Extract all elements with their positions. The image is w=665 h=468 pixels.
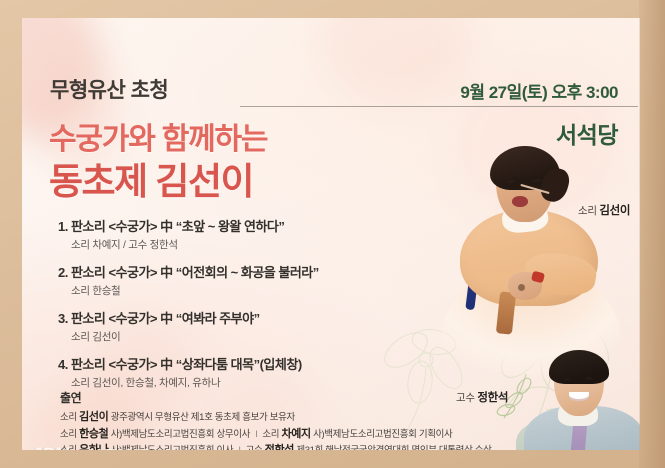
program-item-performers: 소리 한승철 bbox=[71, 283, 428, 298]
cast-heading: 출연 bbox=[60, 389, 590, 406]
header-divider bbox=[240, 106, 638, 107]
poster-title-line2: 동초제 김선이 bbox=[49, 151, 253, 205]
cast-name: 김선이 bbox=[79, 411, 108, 423]
cast-row: 소리 유하나 사)백제남도소리고법진흥회 이사 l 고수 정한석 제31회 해남… bbox=[60, 442, 590, 450]
cast-role: 소리 bbox=[262, 429, 279, 440]
cast-detail: 사)백제남도소리고법진흥회 기획이사 bbox=[313, 429, 452, 440]
kicker-text: 무형유산 초청 bbox=[50, 74, 168, 104]
event-venue: 서석당 bbox=[556, 116, 618, 150]
cast-detail: 사)백제남도소리고법진흥회 이사 bbox=[111, 445, 234, 450]
program-item-title: 3. 판소리 <수궁가> 中 “여봐라 주부야” bbox=[58, 308, 428, 327]
cast-role: 소리 bbox=[60, 412, 77, 423]
cast-section: 출연 소리 김선이 광주광역시 무형유산 제1호 동초제 흥보가 보유자 소리 … bbox=[60, 389, 590, 450]
cast-role: 소리 bbox=[60, 445, 77, 450]
singer-label-role: 소리 bbox=[578, 205, 597, 217]
singer-photo-label: 소리 김선이 bbox=[578, 202, 630, 218]
cast-role: 소리 bbox=[60, 429, 77, 440]
cast-name: 정한석 bbox=[265, 444, 294, 450]
poster-frame: 무형유산 초청 9월 27일(토) 오후 3:00 서석당 수궁가와 함께하는 … bbox=[0, 0, 665, 468]
singer-label-name: 김선이 bbox=[599, 205, 630, 217]
cast-role: 고수 bbox=[246, 445, 263, 450]
program-list: 1. 판소리 <수궁가> 中 “초앞 ~ 왕왈 연하다” 소리 차예지 / 고수… bbox=[58, 216, 428, 400]
cast-separator: l bbox=[252, 429, 260, 440]
program-item: 1. 판소리 <수궁가> 中 “초앞 ~ 왕왈 연하다” 소리 차예지 / 고수… bbox=[58, 216, 428, 252]
poster-card: 무형유산 초청 9월 27일(토) 오후 3:00 서석당 수궁가와 함께하는 … bbox=[22, 18, 640, 450]
program-item-performers: 소리 차예지 / 고수 정한석 bbox=[71, 237, 428, 252]
cast-row: 소리 한승철 사)백제남도소리고법진흥회 상무이사 l 소리 차예지 사)백제남… bbox=[60, 426, 590, 443]
cast-detail: 제31회 해남전국국악경연대회 명인부 대통령상 수상 bbox=[296, 445, 491, 450]
cast-name: 한승철 bbox=[79, 428, 108, 440]
cast-row: 소리 김선이 광주광역시 무형유산 제1호 동초제 흥보가 보유자 bbox=[60, 409, 590, 426]
singer-photo bbox=[446, 146, 614, 376]
program-item: 3. 판소리 <수궁가> 中 “여봐라 주부야” 소리 김선이 bbox=[58, 308, 428, 344]
cast-name: 차예지 bbox=[281, 428, 310, 440]
program-item-title: 1. 판소리 <수궁가> 中 “초앞 ~ 왕왈 연하다” bbox=[58, 216, 428, 235]
event-datetime: 9월 27일(토) 오후 3:00 bbox=[460, 78, 618, 103]
program-item-performers: 소리 김선이 bbox=[71, 329, 428, 344]
cast-detail: 광주광역시 무형유산 제1호 동초제 흥보가 보유자 bbox=[111, 412, 295, 423]
program-item: 4. 판소리 <수궁가> 中 “상좌다툼 대목”(입체창) 소리 김선이, 한승… bbox=[58, 354, 428, 390]
program-item-performers: 소리 김선이, 한승철, 차예지, 유하나 bbox=[71, 375, 428, 390]
cast-separator: l bbox=[236, 445, 244, 450]
background-blob bbox=[322, 18, 472, 104]
program-item-title: 2. 판소리 <수궁가> 中 “어전회의 ~ 화공을 불러라” bbox=[58, 262, 428, 281]
cast-name: 유하나 bbox=[79, 444, 108, 450]
cast-detail: 사)백제남도소리고법진흥회 상무이사 bbox=[111, 429, 250, 440]
program-item: 2. 판소리 <수궁가> 中 “어전회의 ~ 화공을 불러라” 소리 한승철 bbox=[58, 262, 428, 298]
program-item-title: 4. 판소리 <수궁가> 中 “상좌다툼 대목”(입체창) bbox=[58, 354, 428, 373]
